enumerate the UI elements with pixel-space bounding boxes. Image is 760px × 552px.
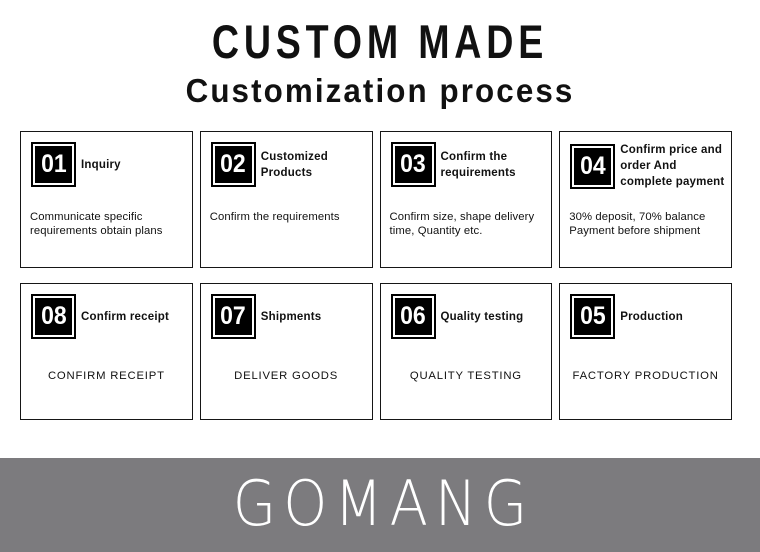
step-number-badge: 03 [391, 142, 436, 187]
process-step-grid: 01 Inquiry Communicate specific requirem… [20, 131, 732, 420]
page-subtitle: Customization process [19, 71, 741, 111]
step-title: Confirm the requirements [441, 149, 552, 181]
step-number: 02 [220, 152, 246, 177]
step-number: 03 [400, 152, 426, 177]
card-header: 08 Confirm receipt [21, 284, 192, 339]
process-row-bottom: 08 Confirm receipt CONFIRM RECEIPT 07 Sh… [20, 283, 732, 420]
brand-logo: GOMANG [226, 474, 534, 537]
step-description: QUALITY TESTING [386, 369, 547, 383]
step-description: CONFIRM RECEIPT [26, 369, 187, 383]
step-number: 01 [41, 152, 67, 177]
step-title: Confirm price and order And complete pay… [620, 142, 731, 190]
step-title: Confirm receipt [81, 309, 169, 325]
process-step-card: 08 Confirm receipt CONFIRM RECEIPT [20, 283, 193, 420]
step-number-badge: 07 [211, 294, 256, 339]
step-description: FACTORY PRODUCTION [565, 369, 726, 383]
step-number-badge: 08 [31, 294, 76, 339]
step-number-badge: 04 [570, 144, 615, 189]
process-step-card: 07 Shipments DELIVER GOODS [200, 283, 373, 420]
step-number-badge: 06 [391, 294, 436, 339]
process-row-top: 01 Inquiry Communicate specific requirem… [20, 131, 732, 268]
step-description: Communicate specific requirements obtain… [30, 210, 187, 238]
brand-footer: GOMANG [0, 458, 760, 552]
step-number: 07 [220, 304, 246, 329]
step-title: Shipments [261, 309, 322, 325]
step-number-badge: 01 [31, 142, 76, 187]
page-header: CUSTOM MADE Customization process [0, 0, 760, 111]
step-description: DELIVER GOODS [206, 369, 367, 383]
step-title: Customized Products [261, 149, 372, 181]
card-header: 06 Quality testing [381, 284, 552, 339]
step-description: Confirm the requirements [210, 210, 367, 224]
card-header: 02 Customized Products [201, 132, 372, 187]
step-title: Production [620, 309, 683, 325]
step-title: Quality testing [441, 309, 524, 325]
process-step-card: 04 Confirm price and order And complete … [559, 131, 732, 268]
step-number: 06 [400, 304, 426, 329]
step-number-badge: 02 [211, 142, 256, 187]
process-step-card: 03 Confirm the requirements Confirm size… [380, 131, 553, 268]
card-header: 05 Production [560, 284, 731, 339]
page-title: CUSTOM MADE [76, 17, 684, 67]
step-number: 04 [580, 154, 606, 179]
process-step-card: 01 Inquiry Communicate specific requirem… [20, 131, 193, 268]
card-header: 04 Confirm price and order And complete … [560, 132, 731, 190]
step-number: 08 [41, 304, 67, 329]
step-description: Confirm size, shape delivery time, Quant… [390, 210, 547, 238]
card-header: 01 Inquiry [21, 132, 192, 187]
card-header: 07 Shipments [201, 284, 372, 339]
step-number: 05 [580, 304, 606, 329]
process-step-card: 05 Production FACTORY PRODUCTION [559, 283, 732, 420]
step-title: Inquiry [81, 157, 121, 173]
step-number-badge: 05 [570, 294, 615, 339]
card-header: 03 Confirm the requirements [381, 132, 552, 187]
process-step-card: 06 Quality testing QUALITY TESTING [380, 283, 553, 420]
step-description: 30% deposit, 70% balance Payment before … [569, 210, 726, 238]
process-step-card: 02 Customized Products Confirm the requi… [200, 131, 373, 268]
